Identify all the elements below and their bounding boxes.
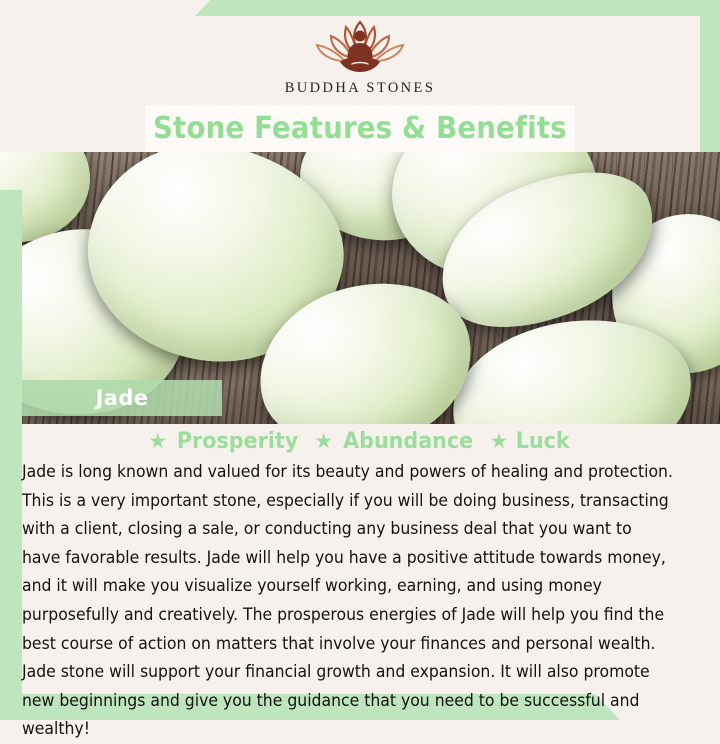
title-banner: Stone Features & Benefits	[145, 105, 575, 152]
star-icon: ★	[148, 431, 167, 452]
brand-name: BUDDHA STONES	[285, 80, 436, 97]
benefit-item-abundance: ★ Abundance	[314, 429, 477, 454]
star-icon: ★	[489, 431, 508, 452]
star-icon: ★	[314, 431, 333, 452]
benefit-label: Luck	[516, 429, 570, 454]
benefit-item-luck: ★ Luck	[489, 429, 571, 454]
stone-description: Jade is long known and valued for its be…	[22, 458, 673, 744]
stone-name-band: Jade	[22, 380, 222, 416]
lotus-meditation-figure-icon	[300, 14, 420, 76]
brand-header: BUDDHA STONES	[0, 0, 720, 105]
benefit-label: Prosperity	[177, 429, 298, 454]
stone-name-label: Jade	[96, 386, 149, 410]
benefit-label: Abundance	[343, 429, 473, 454]
page-title: Stone Features & Benefits	[153, 111, 567, 146]
benefit-item-prosperity: ★ Prosperity	[148, 429, 302, 454]
benefits-row: ★ Prosperity ★ Abundance ★ Luck	[0, 429, 720, 454]
